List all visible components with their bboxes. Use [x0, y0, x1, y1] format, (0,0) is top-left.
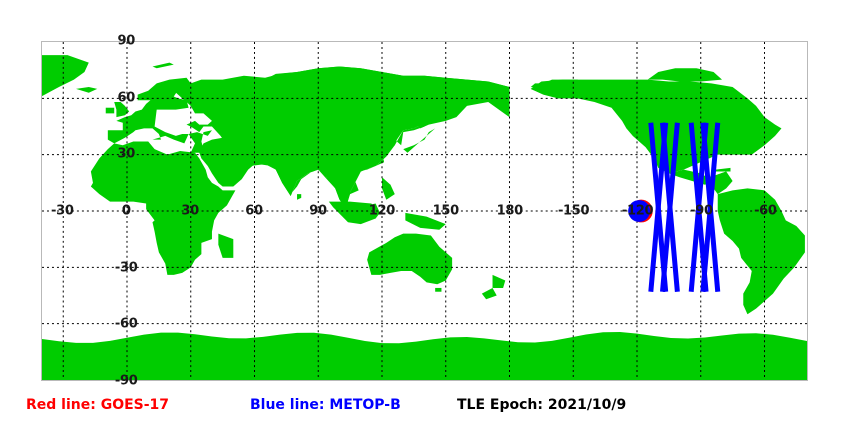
- lon-tick--30: -30: [51, 205, 74, 218]
- lat-tick-90: 90: [117, 35, 135, 48]
- landmass-camerica: [714, 172, 733, 195]
- lon-tick-60: 60: [245, 205, 263, 218]
- landmass-ireland: [106, 108, 114, 114]
- landmass-antarctica: [42, 332, 807, 380]
- lon-tick-150: 150: [433, 205, 459, 218]
- lon-tick--150: -150: [558, 205, 589, 218]
- lat-tick--90: -90: [115, 375, 138, 388]
- lon-tick-90: 90: [309, 205, 327, 218]
- landmass-mideast: [199, 138, 284, 187]
- lat-tick--30: -30: [115, 261, 138, 274]
- legend-red-line: Red line: GOES-17: [26, 398, 169, 412]
- lat-tick-30: 30: [117, 148, 135, 161]
- legend: Red line: GOES-17 Blue line: METOP-B TLE…: [0, 395, 850, 423]
- landmass-japan: [403, 128, 435, 152]
- lon-tick-120: 120: [369, 205, 395, 218]
- landmass-svalbard: [153, 63, 174, 69]
- landmass-philippines: [382, 177, 395, 200]
- landmass-madagascar: [218, 234, 233, 258]
- lon-tick-180: 180: [497, 205, 523, 218]
- landmass-iceland: [76, 87, 97, 93]
- landmass-canadaarc: [648, 68, 722, 81]
- landmass-tasmania: [435, 288, 441, 292]
- landmass-nz2: [482, 288, 497, 299]
- landmass-srilanka: [297, 194, 301, 200]
- lon-tick--120: -120: [622, 205, 653, 218]
- legend-tle-epoch: TLE Epoch: 2021/10/9: [457, 398, 626, 412]
- satellite-ground-track-map: 9060300-30-60-90-300306090120150180-150-…: [0, 0, 850, 425]
- landmass-greenland: [42, 55, 89, 98]
- landmass-australia: [367, 234, 452, 285]
- lon-tick-30: 30: [181, 205, 199, 218]
- lon-tick--90: -90: [690, 205, 713, 218]
- landmass-cuba: [716, 168, 731, 172]
- lon-tick-0: 0: [122, 205, 131, 218]
- lat-tick-60: 60: [117, 91, 135, 104]
- landmass-nz1: [493, 275, 506, 288]
- lat-tick--60: -60: [115, 318, 138, 331]
- lon-tick--60: -60: [754, 205, 777, 218]
- legend-blue-line: Blue line: METOP-B: [250, 398, 401, 412]
